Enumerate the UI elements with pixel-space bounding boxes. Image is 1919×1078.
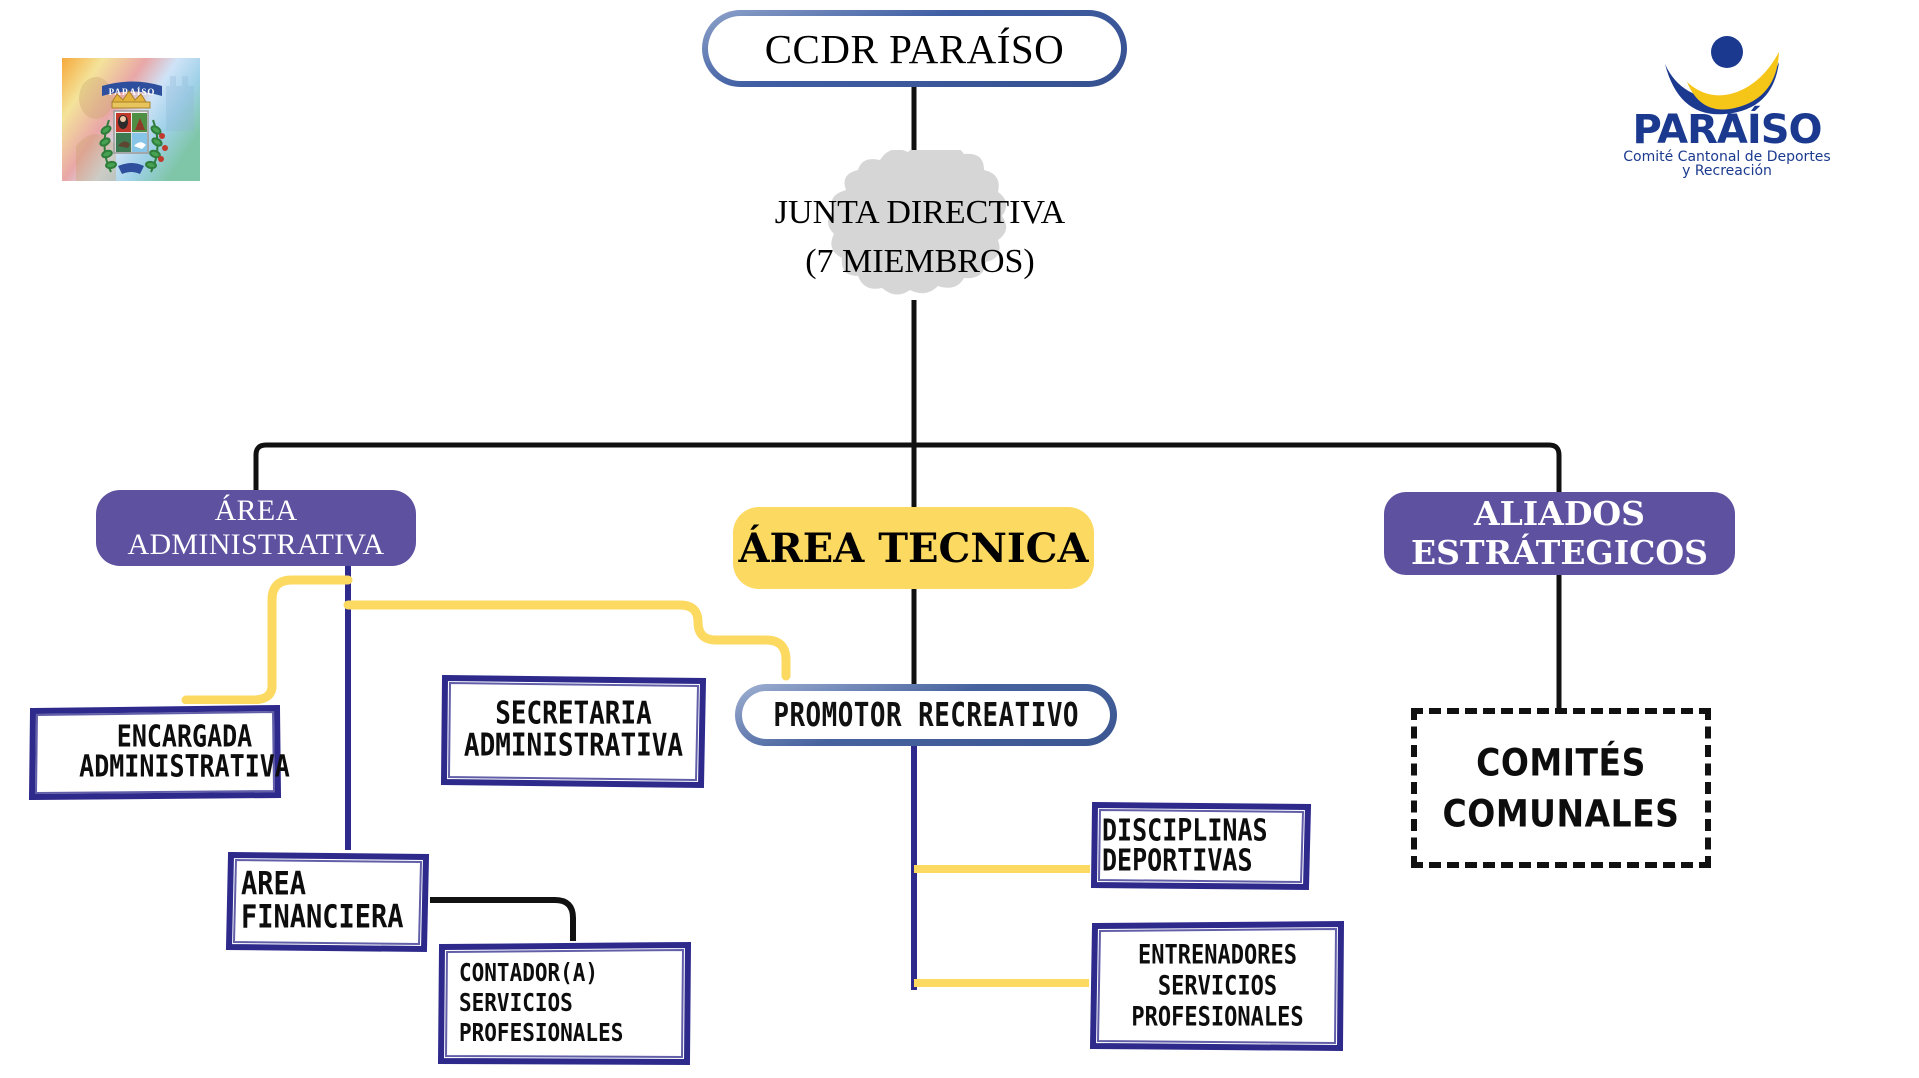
node-entrenadores-text: ENTRENADORES SERVICIOS PROFESIONALES [1089,920,1346,1053]
node-area-administrativa-line2: ADMINISTRATIVA [128,528,385,562]
node-area-tecnica[interactable]: ÁREA TECNICA [733,507,1094,589]
node-contador-line3: PROFESIONALES [459,1016,623,1052]
node-area-financiera-text: AREA FINANCIERA [225,850,446,954]
node-disciplinas-text: DISCIPLINAS DEPORTIVAS [1090,800,1324,892]
node-encargada-text: ENCARGADA ADMINISTRATIVA [28,704,311,800]
node-secretaria-line2: ADMINISTRATIVA [464,728,683,766]
node-area-administrativa-line1: ÁREA [128,494,385,528]
node-entrenadores-servicios-profesionales[interactable]: ENTRENADORES SERVICIOS PROFESIONALES [1089,920,1346,1053]
node-ccdr-paraiso[interactable]: CCDR PARAÍSO [702,10,1127,87]
node-disciplinas-deportivas[interactable]: DISCIPLINAS DEPORTIVAS [1090,800,1312,892]
node-comites-line2: COMUNALES [1443,785,1680,842]
node-aliados-line2: ESTRÁTEGICOS [1411,534,1708,573]
svg-text:y Recreación: y Recreación [1682,163,1772,179]
node-aliados-estrategicos[interactable]: ALIADOS ESTRÁTEGICOS [1384,492,1735,575]
node-comites-line1: COMITÉS [1476,734,1646,791]
node-promotor-recreativo[interactable]: PROMOTOR RECREATIVO [735,684,1117,746]
node-promotor-recreativo-label: PROMOTOR RECREATIVO [773,696,1079,734]
node-comites-comunales[interactable]: COMITÉS COMUNALES [1411,708,1711,868]
node-ccdr-paraiso-label: CCDR PARAÍSO [765,25,1065,73]
node-junta-directiva: JUNTA DIRECTIVA (7 MIEMBROS) [700,188,1140,287]
node-contador-servicios-profesionales[interactable]: CONTADOR(A) SERVICIOS PROFESIONALES [437,941,692,1067]
node-area-financiera[interactable]: AREA FINANCIERA [225,850,430,954]
org-chart-canvas: PARAÍSO PARAÍSO Comité Cantonal de Depor… [0,0,1919,1078]
node-secretaria-text: SECRETARIA ADMINISTRATIVA [440,672,707,790]
node-area-financiera-line2: FINANCIERA [241,899,404,939]
node-disciplinas-line2: DEPORTIVAS [1102,843,1253,880]
ccdr-paraiso-logo: PARAÍSO Comité Cantonal de Deportes y Re… [1615,18,1840,183]
node-area-tecnica-label: ÁREA TECNICA [739,525,1089,572]
node-junta-directiva-line1: JUNTA DIRECTIVA [700,188,1140,237]
node-aliados-line1: ALIADOS [1411,495,1708,534]
node-junta-directiva-line2: (7 MIEMBROS) [700,237,1140,286]
node-entrenadores-line3: PROFESIONALES [1131,999,1303,1036]
node-area-administrativa[interactable]: ÁREA ADMINISTRATIVA [96,490,416,566]
escudo-paraiso-logo: PARAÍSO [62,58,200,181]
svg-text:PARAÍSO: PARAÍSO [1632,105,1821,153]
node-contador-text: CONTADOR(A) SERVICIOS PROFESIONALES [437,941,714,1067]
node-encargada-line2: ADMINISTRATIVA [79,749,290,786]
node-encargada-administrativa[interactable]: ENCARGADA ADMINISTRATIVA [28,704,281,800]
node-secretaria-administrativa[interactable]: SECRETARIA ADMINISTRATIVA [440,672,707,790]
